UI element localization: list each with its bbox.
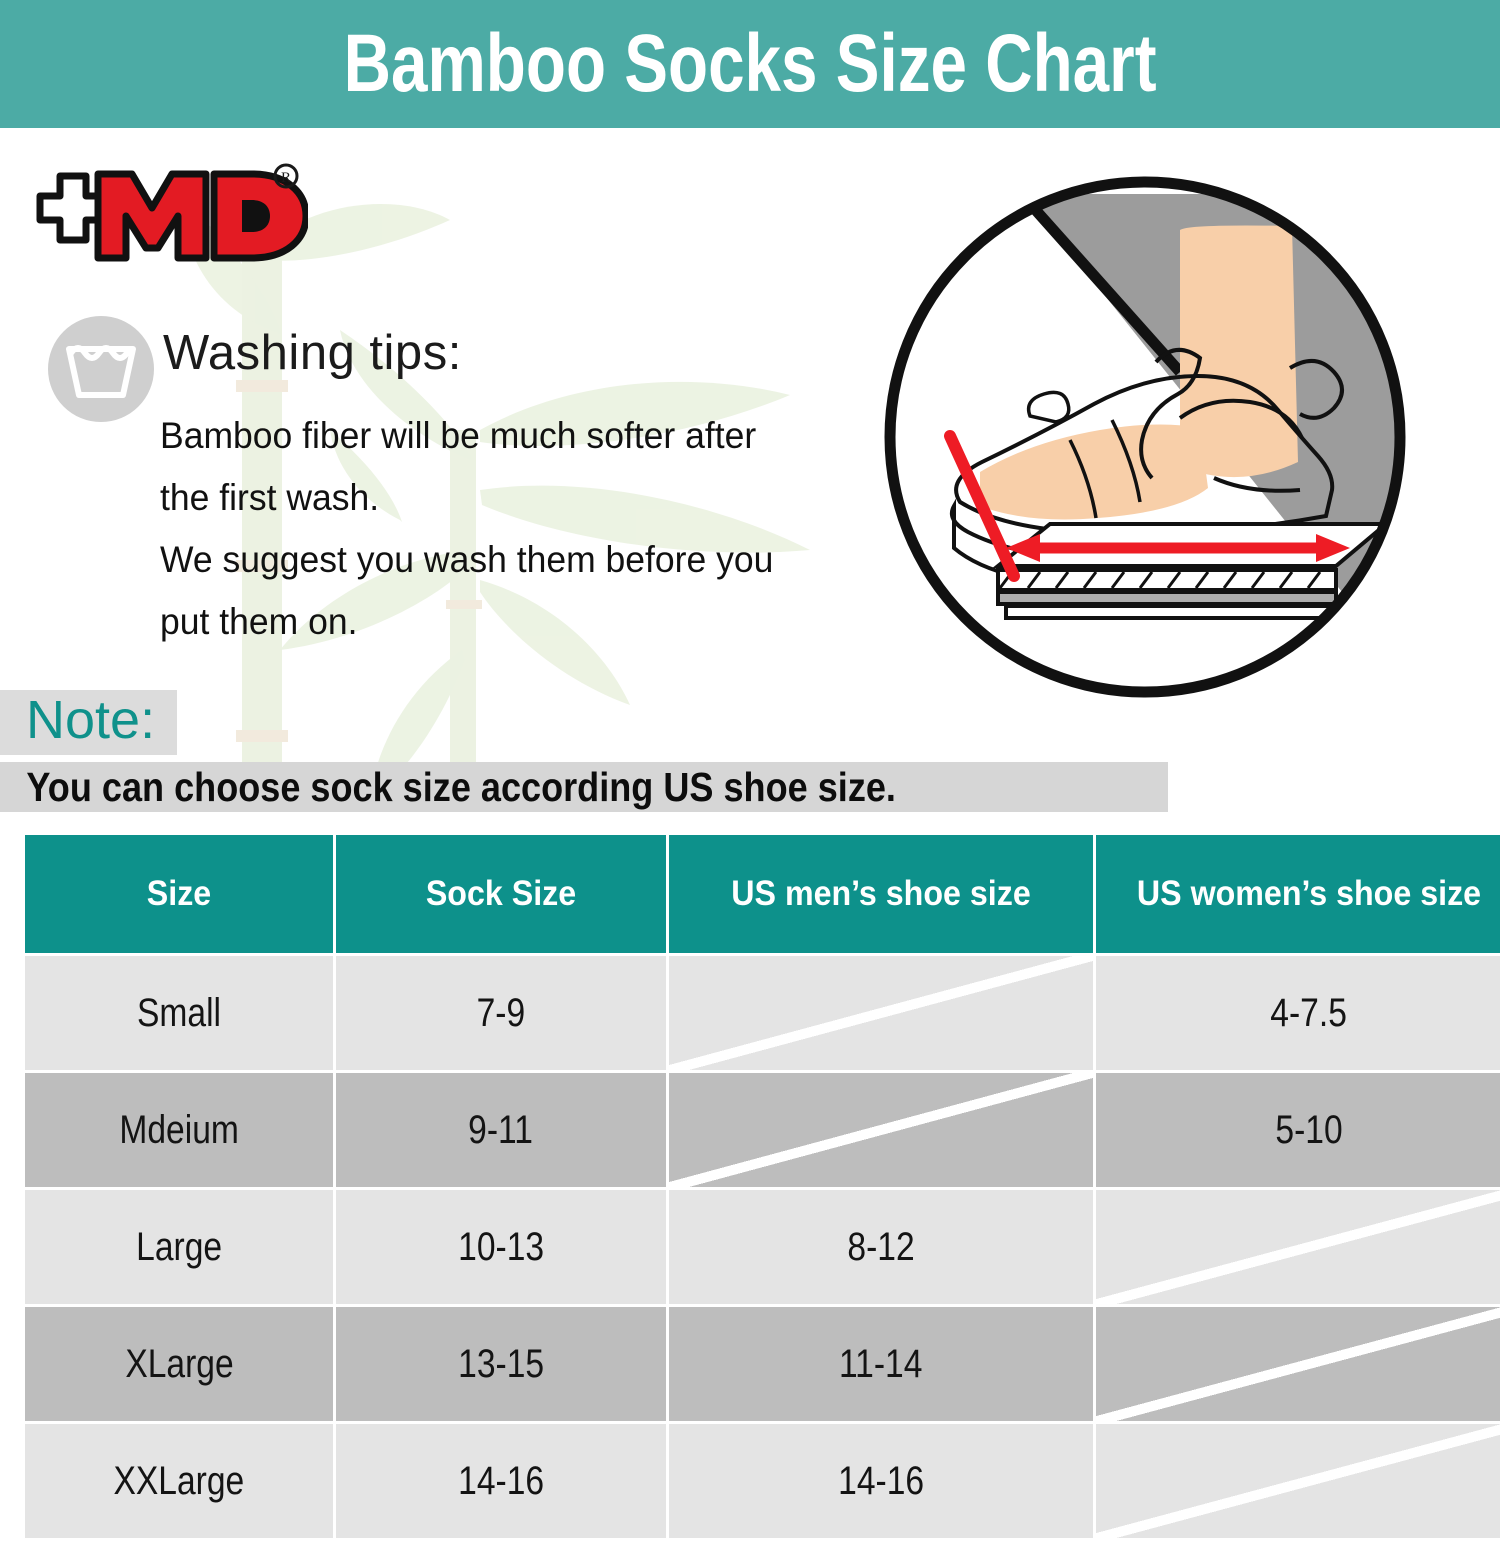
note-label-band: Note: [0,690,177,755]
washing-tips-heading: Washing tips: [163,325,462,381]
cell-sock-size: 9-11 [336,1073,666,1187]
cell-size: Small [25,956,333,1070]
table-row: Mdeium 9-11 5-10 [25,1073,1500,1187]
svg-text:R: R [281,170,291,186]
brand-logo-md: R [18,160,308,272]
table-row: XXLarge 14-16 14-16 [25,1424,1500,1538]
table-row: Small 7-9 4-7.5 [25,956,1500,1070]
note-label: Note: [26,690,155,750]
cell-womens-size-empty [1096,1307,1500,1421]
cell-sock-size: 14-16 [336,1424,666,1538]
table-header-row: Size Sock Size US men’s shoe size US wom… [25,835,1500,953]
cell-sock-size: 10-13 [336,1190,666,1304]
page-title: Bamboo Socks Size Chart [344,23,1157,105]
cell-mens-size: 14-16 [669,1424,1093,1538]
cell-size: Mdeium [25,1073,333,1187]
column-header-sock-size: Sock Size [336,835,666,953]
cell-mens-size: 8-12 [669,1190,1093,1304]
note-text: You can choose sock size according US sh… [0,764,896,811]
cell-size: XXLarge [25,1424,333,1538]
wash-tub-icon [45,313,157,425]
cell-mens-size: 11-14 [669,1307,1093,1421]
cell-mens-size-empty [669,956,1093,1070]
column-header-us-womens-shoe-size: US women’s shoe size [1096,835,1500,953]
column-header-size: Size [25,835,333,953]
washing-tips-line: the first wash. [160,467,870,529]
washing-tips-line: We suggest you wash them before you [160,529,870,591]
cell-size: Large [25,1190,333,1304]
cell-size: XLarge [25,1307,333,1421]
foot-measurement-diagram [880,172,1410,702]
page-banner: Bamboo Socks Size Chart [0,0,1500,128]
note-text-band: You can choose sock size according US sh… [0,762,1168,812]
cell-womens-size: 5-10 [1096,1073,1500,1187]
table-row: Large 10-13 8-12 [25,1190,1500,1304]
cell-womens-size: 4-7.5 [1096,956,1500,1070]
size-chart-table: Size Sock Size US men’s shoe size US wom… [22,832,1500,1541]
washing-tips-line: Bamboo fiber will be much softer after [160,405,870,467]
cell-mens-size-empty [669,1073,1093,1187]
table-row: XLarge 13-15 11-14 [25,1307,1500,1421]
cell-womens-size-empty [1096,1190,1500,1304]
cell-womens-size-empty [1096,1424,1500,1538]
column-header-us-mens-shoe-size: US men’s shoe size [669,835,1093,953]
washing-tips-body: Bamboo fiber will be much softer after t… [160,405,870,653]
cell-sock-size: 7-9 [336,956,666,1070]
cell-sock-size: 13-15 [336,1307,666,1421]
washing-tips-line: put them on. [160,591,870,653]
